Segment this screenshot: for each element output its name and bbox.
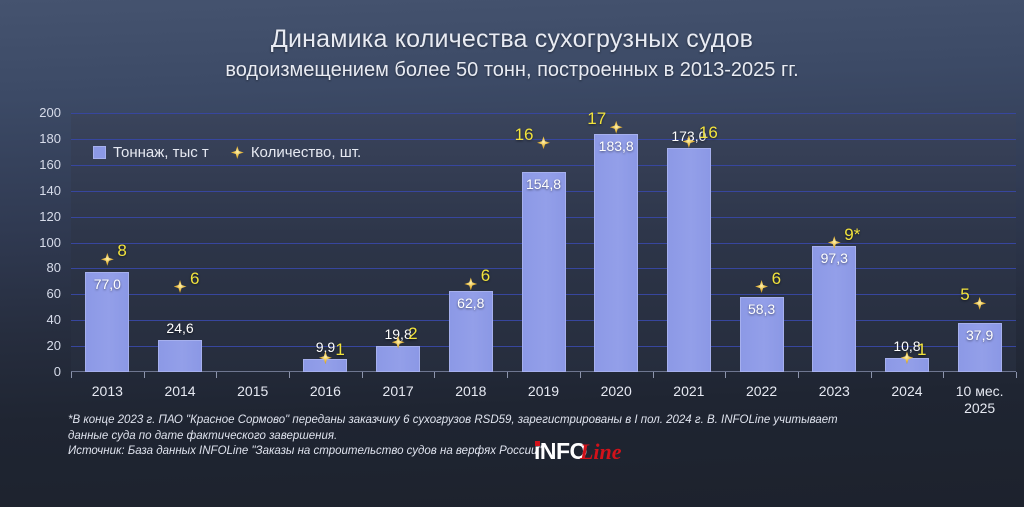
quantity-value-label: 6 [190, 269, 199, 289]
quantity-value-label: 1 [335, 340, 344, 360]
y-axis-tick-label: 40 [15, 312, 61, 327]
gridline [71, 165, 1016, 166]
quantity-value-label: 16 [699, 123, 718, 143]
bar-value-label: 24,6 [145, 320, 215, 336]
diamond-icon [101, 253, 114, 266]
y-axis-tick-label: 60 [15, 286, 61, 301]
x-axis-tick [871, 372, 872, 378]
footnote-source: Источник: База данных INFOLine "Заказы н… [68, 444, 928, 460]
footnote-line-1: *В конце 2023 г. ПАО "Красное Сормово" п… [68, 413, 928, 429]
quantity-marker[interactable] [464, 277, 477, 290]
quantity-marker[interactable] [900, 351, 913, 364]
quantity-marker[interactable] [973, 297, 986, 310]
x-axis-tick [71, 372, 72, 378]
logo-text-line: Line [580, 441, 622, 463]
diamond-icon [392, 336, 405, 349]
legend-label-tonnage: Тоннаж, тыс т [113, 144, 209, 161]
x-axis-category-label: 2023 [798, 383, 871, 400]
footnote-block: *В конце 2023 г. ПАО "Красное Сормово" п… [68, 413, 928, 460]
x-axis-category-label: 2019 [507, 383, 580, 400]
x-axis-category-label: 2017 [362, 383, 435, 400]
x-axis-category-label: 2024 [871, 383, 944, 400]
quantity-marker[interactable] [610, 121, 623, 134]
diamond-icon [537, 136, 550, 149]
diamond-icon [610, 121, 623, 134]
bar-value-label: 97,3 [799, 250, 869, 266]
x-axis-tick [434, 372, 435, 378]
chart-slide: Динамика количества сухогрузных судов во… [0, 0, 1024, 507]
y-axis-tick-label: 120 [15, 209, 61, 224]
page-title: Динамика количества сухогрузных судов [0, 24, 1024, 54]
diamond-marker-icon [231, 146, 244, 159]
diamond-icon [682, 135, 695, 148]
x-axis-tick [580, 372, 581, 378]
x-axis-category-label: 2014 [144, 383, 217, 400]
bar-value-label: 154,8 [509, 176, 579, 192]
quantity-value-label: 6 [772, 269, 781, 289]
bar-value-label: 62,8 [436, 295, 506, 311]
y-axis-tick-label: 80 [15, 260, 61, 275]
quantity-marker[interactable] [755, 280, 768, 293]
diamond-icon [464, 277, 477, 290]
y-axis-tick-label: 0 [15, 364, 61, 379]
x-axis-tick [943, 372, 944, 378]
bar-value-label: 37,9 [945, 327, 1015, 343]
x-axis-tick [289, 372, 290, 378]
x-axis-category-label: 2018 [434, 383, 507, 400]
infoline-logo: iNFO Line [534, 440, 622, 463]
quantity-value-label: 16 [515, 125, 534, 145]
quantity-marker[interactable] [828, 236, 841, 249]
page-subtitle: водоизмещением более 50 тонн, построенны… [0, 57, 1024, 83]
bar-swatch-icon [93, 146, 106, 159]
y-axis-tick-label: 180 [15, 131, 61, 146]
diamond-icon [900, 351, 913, 364]
diamond-icon [755, 280, 768, 293]
bar[interactable] [522, 172, 566, 372]
chart-title-block: Динамика количества сухогрузных судов во… [0, 24, 1024, 83]
x-axis-category-label: 10 мес. 2025 [943, 383, 1016, 417]
quantity-marker[interactable] [319, 351, 332, 364]
gridline [71, 113, 1016, 114]
x-axis-tick [362, 372, 363, 378]
diamond-icon [174, 280, 187, 293]
x-axis-category-label: 2016 [289, 383, 362, 400]
quantity-value-label: 17 [587, 109, 606, 129]
x-axis-tick [653, 372, 654, 378]
x-axis-category-label: 2020 [580, 383, 653, 400]
x-axis-category-label: 2021 [653, 383, 726, 400]
y-axis-tick-label: 20 [15, 338, 61, 353]
diamond-icon [973, 297, 986, 310]
footnote-line-2: данные суда по дате фактического заверше… [68, 429, 928, 445]
quantity-marker[interactable] [174, 280, 187, 293]
logo-i-dot-icon [535, 441, 540, 446]
chart-legend: Тоннаж, тыс т Количество, шт. [93, 144, 361, 161]
diamond-icon [319, 351, 332, 364]
x-axis-tick [798, 372, 799, 378]
bar-value-label: 58,3 [727, 301, 797, 317]
x-axis-tick [1016, 372, 1017, 378]
y-axis-tick-label: 140 [15, 183, 61, 198]
x-axis-category-label: 2015 [216, 383, 289, 400]
y-axis-tick-label: 200 [15, 105, 61, 120]
quantity-value-label: 8 [117, 241, 126, 261]
quantity-marker[interactable] [537, 136, 550, 149]
diamond-icon [828, 236, 841, 249]
bar-value-label: 77,0 [72, 276, 142, 292]
y-axis-tick-label: 160 [15, 157, 61, 172]
bar-value-label: 183,8 [581, 138, 651, 154]
x-axis-tick [144, 372, 145, 378]
legend-item-tonnage[interactable]: Тоннаж, тыс т [93, 144, 209, 161]
bar[interactable] [376, 346, 420, 372]
quantity-value-label: 6 [481, 266, 490, 286]
quantity-value-label: 1 [917, 340, 926, 360]
bar[interactable] [594, 134, 638, 372]
y-axis-tick-label: 100 [15, 235, 61, 250]
x-axis-tick [725, 372, 726, 378]
bar[interactable] [667, 148, 711, 372]
x-axis-category-label: 2022 [725, 383, 798, 400]
quantity-value-label: 2 [408, 324, 417, 344]
quantity-value-label: 9* [844, 225, 860, 245]
quantity-value-label: 5 [960, 285, 969, 305]
x-axis-tick [216, 372, 217, 378]
quantity-marker[interactable] [101, 253, 114, 266]
bar[interactable] [158, 340, 202, 372]
quantity-marker[interactable] [392, 336, 405, 349]
legend-label-quantity: Количество, шт. [251, 144, 361, 161]
x-axis-tick [507, 372, 508, 378]
x-axis-category-label: 2013 [71, 383, 144, 400]
quantity-marker[interactable] [682, 135, 695, 148]
legend-item-quantity[interactable]: Количество, шт. [231, 144, 361, 161]
